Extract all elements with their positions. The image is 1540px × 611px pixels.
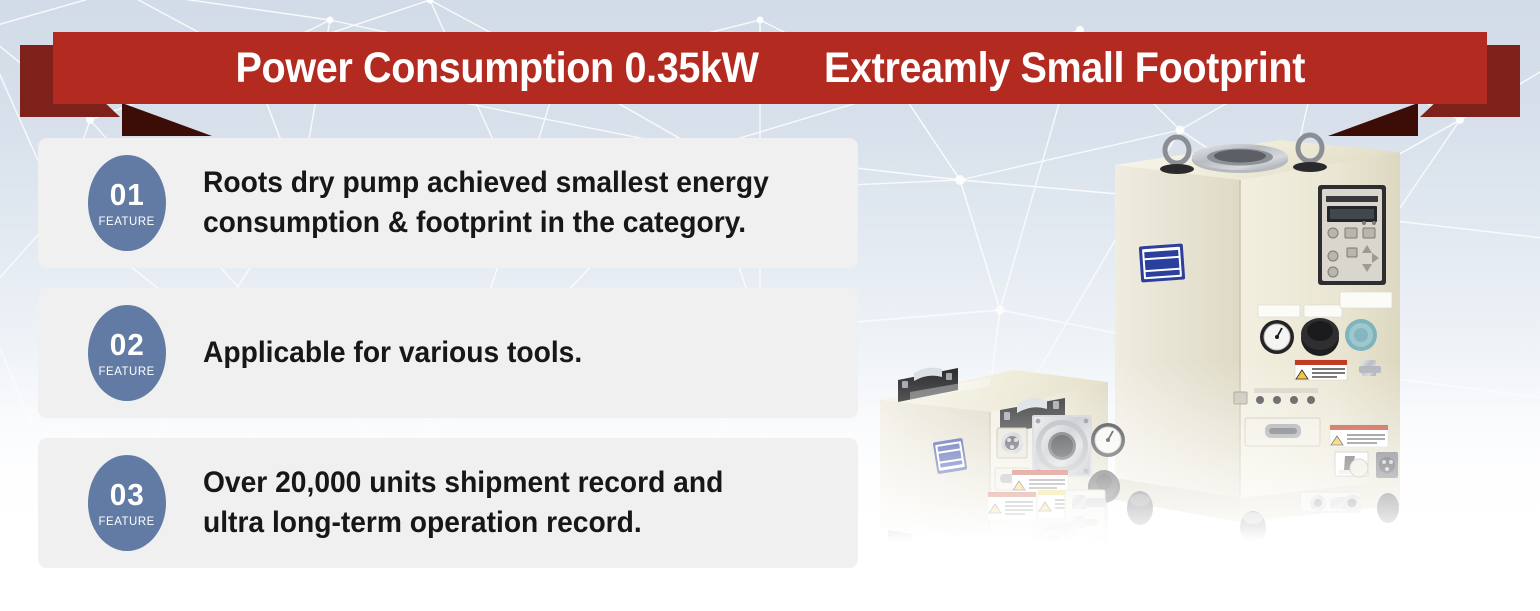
- purge-port-cap: [1345, 319, 1377, 351]
- nameplate-large: [1139, 244, 1185, 283]
- feature-label-01: FEATURE: [99, 214, 155, 228]
- feature-text-03-line2: ultra long-term operation record.: [203, 503, 723, 543]
- feature-label-02: FEATURE: [99, 364, 155, 378]
- shadow-large-pump: [1120, 534, 1500, 586]
- headline-ribbon: Power Consumption 0.35kW Extreamly Small…: [0, 0, 1540, 135]
- banner-stage: Power Consumption 0.35kW Extreamly Small…: [0, 0, 1540, 611]
- feature-list: 01 FEATURE Roots dry pump achieved small…: [38, 138, 858, 588]
- outlet-flange-small: [1032, 522, 1076, 564]
- headline-right-text: Extreamly Small Footprint: [824, 44, 1305, 92]
- feature-badge-02: 02 FEATURE: [88, 305, 166, 401]
- feature-text-03: Over 20,000 units shipment record and ul…: [203, 463, 723, 543]
- ribbon-bar: Power Consumption 0.35kW Extreamly Small…: [53, 32, 1487, 104]
- circular-connector-small: [997, 428, 1027, 458]
- pressure-gauge-large: [1260, 320, 1294, 354]
- feature-number-02: 02: [109, 329, 144, 360]
- feature-card-02: 02 FEATURE Applicable for various tools.: [38, 288, 858, 418]
- feature-label-03: FEATURE: [99, 514, 155, 528]
- warning-label-large-1: [1295, 360, 1347, 380]
- warning-label-large-2: [1330, 425, 1388, 447]
- ribbon-headline: Power Consumption 0.35kW Extreamly Small…: [235, 47, 1305, 90]
- feature-badge-03: 03 FEATURE: [88, 455, 166, 551]
- pressure-gauge-small: [1091, 423, 1125, 457]
- ribbon-shadow-right: [1328, 103, 1418, 136]
- warning-label-small-3: [988, 492, 1036, 520]
- inlet-flange-top: [1192, 144, 1288, 173]
- label-strip: [1304, 305, 1342, 317]
- ribbon-shadow-left: [122, 103, 212, 136]
- feature-text-02-line1: Applicable for various tools.: [203, 333, 582, 373]
- feature-text-01-line1: Roots dry pump achieved smallest energy: [203, 163, 769, 203]
- feature-text-01-line2: consumption & footprint in the category.: [203, 203, 769, 243]
- label-strip: [1258, 305, 1300, 317]
- round-connector-large: [1350, 459, 1368, 477]
- feature-text-02: Applicable for various tools.: [203, 333, 582, 373]
- nameplate-small: [933, 438, 968, 474]
- feature-badge-01: 01 FEATURE: [88, 155, 166, 251]
- regulator-knob-large: [1301, 318, 1339, 356]
- label-strip: [1340, 292, 1392, 308]
- headline-left-text: Power Consumption 0.35kW: [235, 44, 758, 92]
- network-port: [1234, 392, 1247, 404]
- power-connector-large: [1376, 452, 1398, 478]
- feature-number-03: 03: [109, 479, 144, 510]
- feature-text-01: Roots dry pump achieved smallest energy …: [203, 163, 769, 243]
- feature-card-01: 01 FEATURE Roots dry pump achieved small…: [38, 138, 858, 268]
- large-pump: [1115, 135, 1400, 545]
- dsub-connector-large: [1245, 418, 1320, 446]
- feature-card-03: 03 FEATURE Over 20,000 units shipment re…: [38, 438, 858, 568]
- feature-text-03-line1: Over 20,000 units shipment record and: [203, 463, 723, 503]
- small-pump: [880, 368, 1125, 576]
- vacuum-outlet-fittings: [1300, 492, 1361, 512]
- control-panel: [1318, 185, 1386, 285]
- feature-number-01: 01: [109, 179, 144, 210]
